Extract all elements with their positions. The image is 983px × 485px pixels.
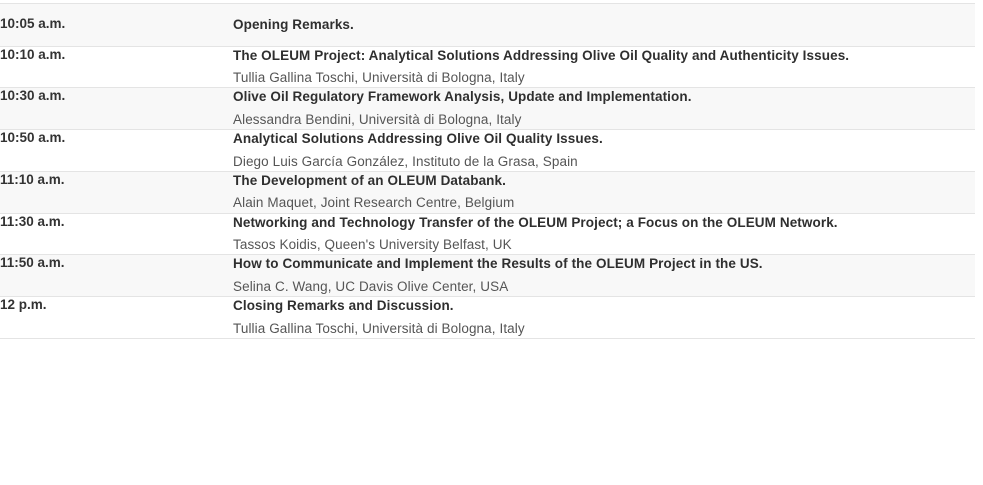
session-speaker: Alain Maquet, Joint Research Centre, Bel… (233, 194, 975, 212)
session-time: 10:30 a.m. (0, 88, 233, 130)
session-title: Closing Remarks and Discussion. (233, 297, 975, 315)
session-time: 10:05 a.m. (0, 4, 233, 47)
session-details: How to Communicate and Implement the Res… (233, 255, 975, 297)
agenda-schedule-table: 10:05 a.m.Opening Remarks.10:10 a.m.The … (0, 3, 975, 339)
table-row: 11:10 a.m.The Development of an OLEUM Da… (0, 171, 975, 213)
session-speaker: Tullia Gallina Toschi, Università di Bol… (233, 320, 975, 338)
table-row: 10:30 a.m.Olive Oil Regulatory Framework… (0, 88, 975, 130)
session-speaker: Alessandra Bendini, Università di Bologn… (233, 111, 975, 129)
session-speaker: Tullia Gallina Toschi, Università di Bol… (233, 69, 975, 87)
table-row: 10:50 a.m.Analytical Solutions Addressin… (0, 130, 975, 172)
session-details: Networking and Technology Transfer of th… (233, 213, 975, 255)
table-row: 10:05 a.m.Opening Remarks. (0, 4, 975, 47)
schedule-container: 10:05 a.m.Opening Remarks.10:10 a.m.The … (0, 0, 983, 339)
session-title: Networking and Technology Transfer of th… (233, 214, 975, 232)
session-speaker: Selina C. Wang, UC Davis Olive Center, U… (233, 278, 975, 296)
session-speaker: Tassos Koidis, Queen's University Belfas… (233, 236, 975, 254)
table-row: 10:10 a.m.The OLEUM Project: Analytical … (0, 46, 975, 88)
session-title: Analytical Solutions Addressing Olive Oi… (233, 130, 975, 148)
session-details: Analytical Solutions Addressing Olive Oi… (233, 130, 975, 172)
session-time: 11:30 a.m. (0, 213, 233, 255)
session-details: Opening Remarks. (233, 4, 975, 47)
session-title: The Development of an OLEUM Databank. (233, 172, 975, 190)
session-time: 10:10 a.m. (0, 46, 233, 88)
session-details: Closing Remarks and Discussion.Tullia Ga… (233, 297, 975, 339)
session-title: The OLEUM Project: Analytical Solutions … (233, 47, 975, 65)
session-time: 11:10 a.m. (0, 171, 233, 213)
session-title: Olive Oil Regulatory Framework Analysis,… (233, 88, 975, 106)
session-details: Olive Oil Regulatory Framework Analysis,… (233, 88, 975, 130)
table-row: 11:50 a.m.How to Communicate and Impleme… (0, 255, 975, 297)
session-title: Opening Remarks. (233, 16, 975, 34)
table-row: 11:30 a.m.Networking and Technology Tran… (0, 213, 975, 255)
session-speaker: Diego Luis García González, Instituto de… (233, 153, 975, 171)
session-time: 10:50 a.m. (0, 130, 233, 172)
session-time: 12 p.m. (0, 297, 233, 339)
table-row: 12 p.m.Closing Remarks and Discussion.Tu… (0, 297, 975, 339)
schedule-body: 10:05 a.m.Opening Remarks.10:10 a.m.The … (0, 4, 975, 339)
session-time: 11:50 a.m. (0, 255, 233, 297)
session-title: How to Communicate and Implement the Res… (233, 255, 975, 273)
session-details: The Development of an OLEUM Databank.Ala… (233, 171, 975, 213)
session-details: The OLEUM Project: Analytical Solutions … (233, 46, 975, 88)
